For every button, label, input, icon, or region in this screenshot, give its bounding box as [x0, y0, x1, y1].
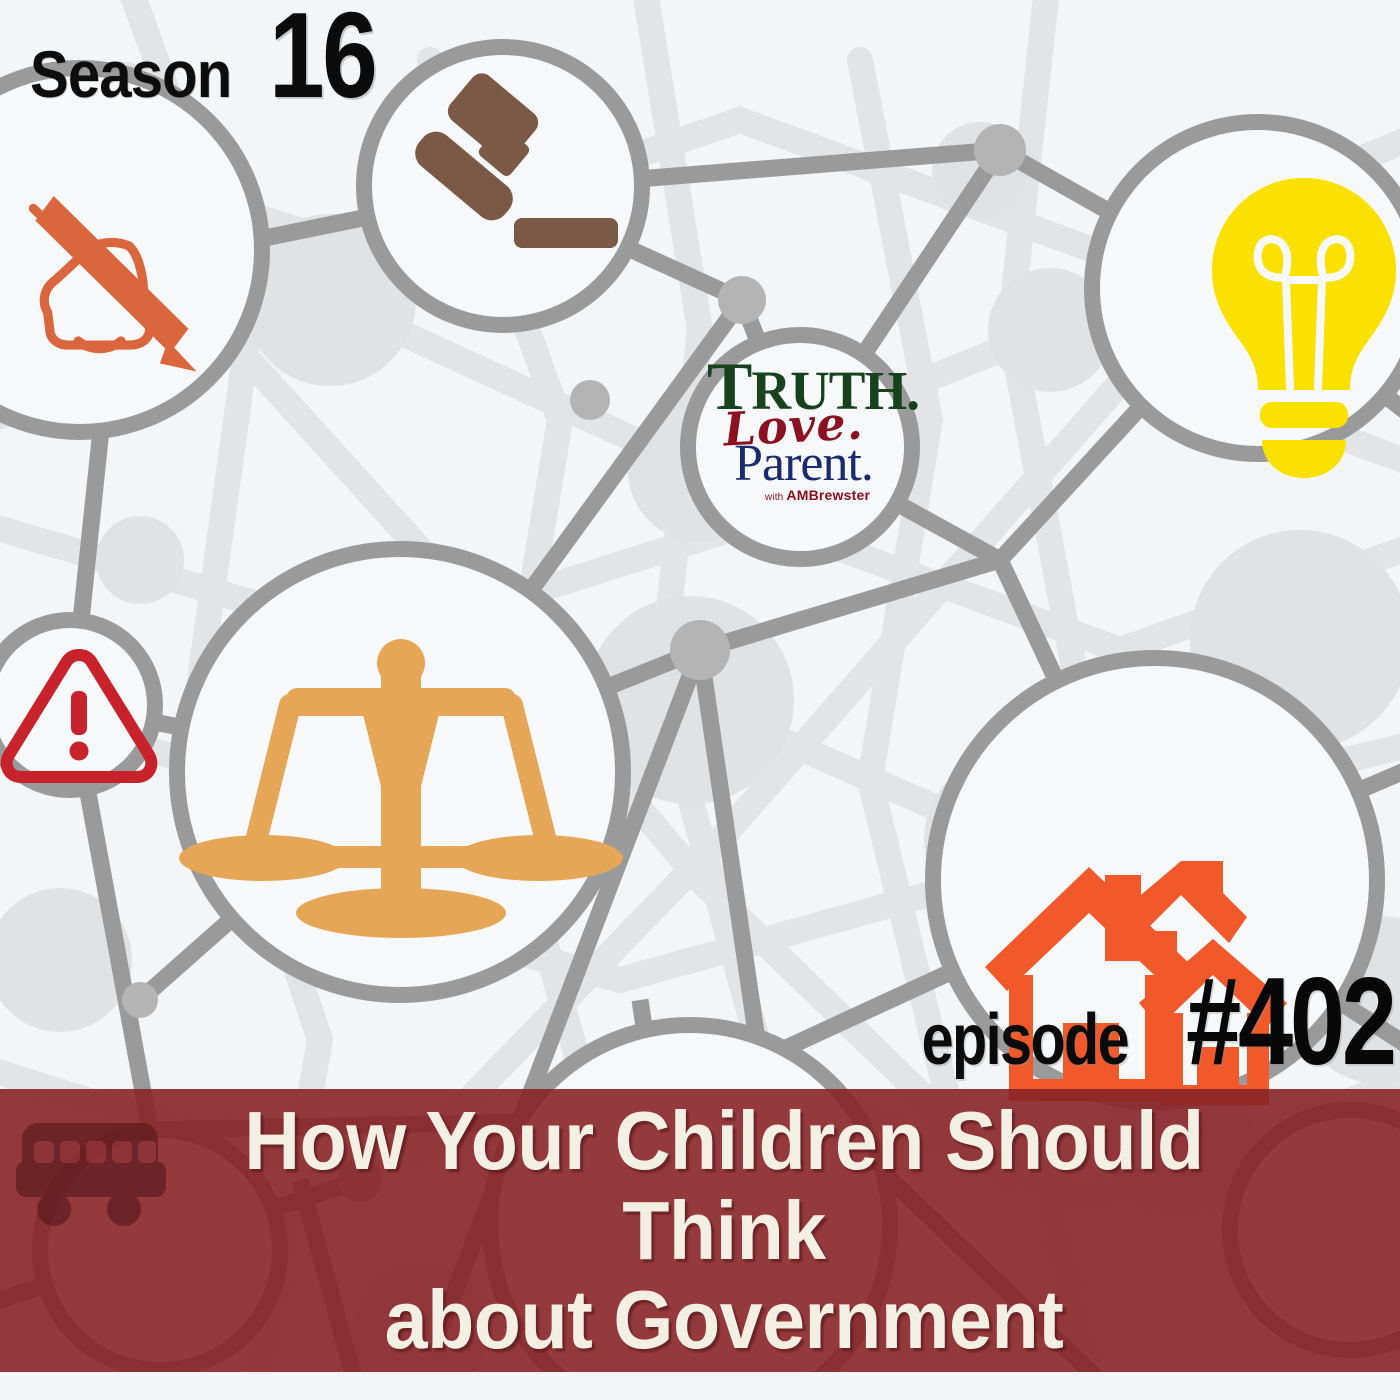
- truth-love-parent-logo: TRUTH. Love. Parent. with AMBrewster: [699, 355, 902, 535]
- episode-title: How Your Children Should Think about Gov…: [152, 1096, 1296, 1365]
- episode-title-bar: How Your Children Should Think about Gov…: [0, 1089, 1400, 1372]
- bus-icon: [14, 1117, 174, 1237]
- logo-byline-name: AMBrewster: [786, 487, 870, 503]
- episode-title-line-1: How Your Children Should Think: [152, 1096, 1296, 1275]
- logo-byline-with: with: [765, 492, 787, 503]
- season-number: 16: [269, 0, 375, 116]
- bottom-strip: [0, 1372, 1400, 1400]
- episode-title-line-2: about Government: [152, 1275, 1296, 1365]
- season-label: Season 16: [30, 0, 398, 116]
- episode-word: episode: [922, 1006, 1128, 1074]
- season-word: Season: [30, 41, 231, 107]
- episode-number: #402: [1186, 964, 1394, 1082]
- episode-label: episode #402: [870, 964, 1394, 1082]
- podcast-cover-art: Season 16 TRUTH. Love. Parent. with AMBr…: [0, 0, 1400, 1400]
